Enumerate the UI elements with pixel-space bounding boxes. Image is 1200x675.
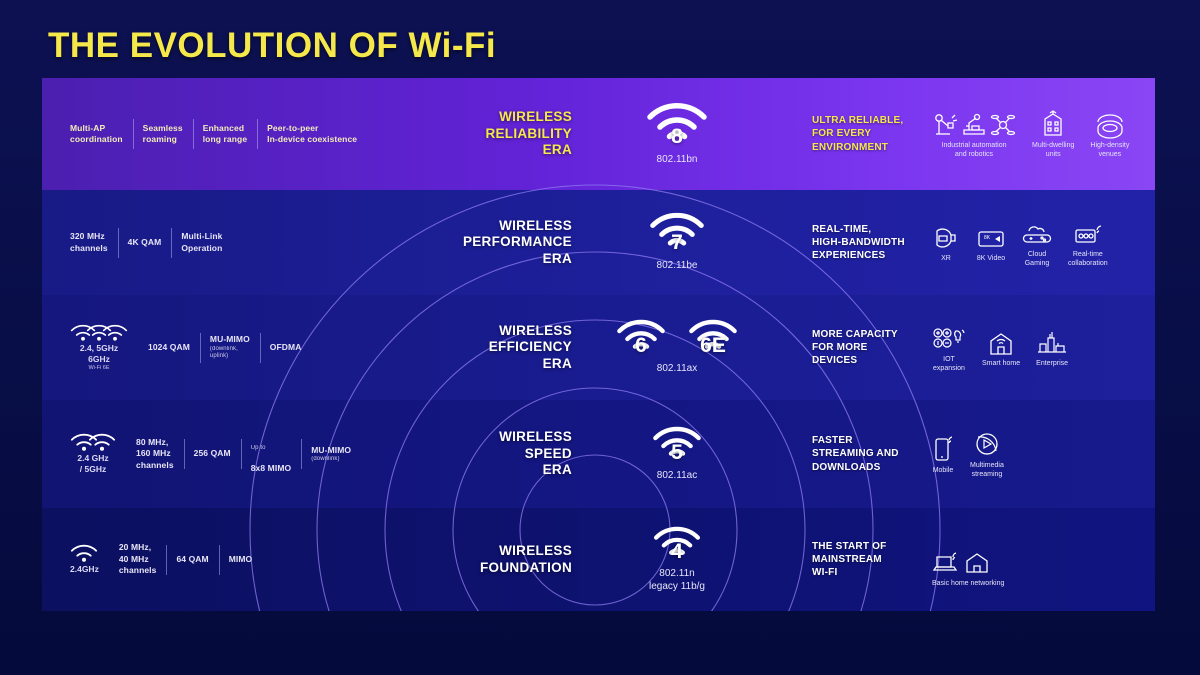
wifi-standard: 802.11bn — [657, 154, 698, 167]
features-cell: 2.4GHz 20 MHz, 40 MHz channels 64 QAM MI… — [60, 508, 410, 611]
benefit-cell: THE START OF MAINSTREAM WI-FI — [812, 508, 932, 611]
wifi-standard: 802.11ax — [657, 363, 697, 376]
multimedia-streaming-icon — [972, 430, 1002, 458]
wifi-standard: 802.11ac — [657, 470, 697, 483]
use-case-label: Enterprise — [1036, 360, 1068, 369]
wifi-generation: 6 — [635, 338, 647, 355]
feature-item: Seamless roaming — [133, 123, 193, 146]
wifi-signal-icon — [70, 544, 98, 562]
feature-item: 80 MHz, 160 MHz channels — [126, 437, 184, 471]
wifi-generation: 8 — [671, 129, 683, 146]
frequency-band: 2.4GHz — [60, 544, 109, 575]
wifi-generation: 5 — [671, 445, 683, 462]
industrial-robot-icon — [961, 112, 987, 138]
era-title: WIRELESS PERFORMANCE ERA — [463, 218, 572, 267]
use-case-label: Basic home networking — [932, 580, 1004, 589]
use-case: Enterprise — [1036, 326, 1068, 369]
band-label: 2.4, 5GHz 6GHz — [80, 343, 118, 364]
row-content-wifi8: Multi-AP coordination Seamless roaming E… — [42, 78, 1155, 190]
wifi-generation: 4 — [671, 544, 683, 561]
use-case-label: 8K Video — [977, 255, 1005, 264]
feature-item: 4K QAM — [118, 237, 172, 248]
home-icon — [963, 551, 991, 575]
feature-item: Multi-AP coordination — [60, 123, 133, 146]
wifi-signal-icon — [102, 324, 128, 341]
video-8k-icon: 8K — [976, 227, 1006, 251]
use-case-label: Mobile — [933, 467, 954, 476]
feature-item: Up to 8x8 MIMO — [241, 433, 301, 475]
frequency-band: 2.4, 5GHz 6GHz Wi-Fi 6E — [60, 324, 138, 370]
wifi-logo-cell: 4 802.11n legacy 11b/g — [577, 508, 777, 611]
drone-icon — [990, 112, 1016, 138]
wifi-standard: 802.11be — [657, 260, 698, 273]
use-cases-cell: IOT expansion Smart home — [932, 295, 1155, 400]
frequency-band: 2.4 GHz / 5GHz — [60, 433, 126, 474]
wifi-logo-cell: 8 802.11bn — [577, 78, 777, 190]
robot-arm-icon — [932, 112, 958, 138]
use-case: 8K 8K Video — [976, 221, 1006, 264]
slide-background: THE EVOLUTION OF Wi-Fi Multi-AP coordina… — [0, 0, 1200, 675]
iot-devices-icon — [932, 326, 966, 352]
use-case: Industrial automation and robotics — [932, 108, 1016, 160]
use-case-label: Cloud Gaming — [1025, 251, 1050, 269]
use-case: IOT expansion — [932, 322, 966, 374]
use-cases-cell: XR 8K 8K Video — [932, 190, 1155, 295]
features-cell: 2.4 GHz / 5GHz 80 MHz, 160 MHz channels … — [60, 400, 410, 508]
use-cases-cell: Basic home networking — [932, 508, 1155, 611]
band-sublabel: Wi-Fi 6E — [88, 365, 109, 371]
enterprise-campus-icon — [1036, 330, 1068, 356]
feature-title: MU-MIMO — [210, 334, 250, 344]
use-case-label: Real-time collaboration — [1068, 251, 1108, 269]
use-cases-cell: Industrial automation and robotics Multi… — [932, 78, 1155, 190]
benefit-cell: MORE CAPACITY FOR MORE DEVICES — [812, 295, 932, 400]
vr-headset-icon — [932, 227, 960, 251]
era-label-cell: WIRELESS RELIABILITY ERA — [417, 78, 572, 190]
cloud-gaming-icon — [1022, 223, 1052, 247]
row-content-wifi4: 2.4GHz 20 MHz, 40 MHz channels 64 QAM MI… — [42, 508, 1155, 611]
row-content-wifi7: 320 MHz channels 4K QAM Multi-Link Opera… — [42, 190, 1155, 295]
era-label-cell: WIRELESS PERFORMANCE ERA — [417, 190, 572, 295]
use-case — [932, 545, 991, 575]
feature-item: Peer-to-peer In-device coexistence — [257, 123, 367, 146]
use-cases-cell: Mobile Multimedia streaming — [932, 400, 1155, 508]
era-label-cell: WIRELESS SPEED ERA — [417, 400, 572, 508]
stadium-icon — [1095, 112, 1125, 138]
feature-item: MU-MIMO (downlink) — [301, 433, 361, 475]
wifi-logo-cell: 5 802.11ac — [577, 400, 777, 508]
benefit-text: REAL-TIME, HIGH-BANDWIDTH EXPERIENCES — [812, 223, 905, 263]
band-label: 2.4GHz — [70, 564, 99, 575]
use-case-label: High-density venues — [1090, 142, 1129, 160]
benefit-text: FASTER STREAMING AND DOWNLOADS — [812, 434, 899, 474]
use-case: Cloud Gaming — [1022, 217, 1052, 269]
benefit-text: MORE CAPACITY FOR MORE DEVICES — [812, 328, 898, 368]
wifi-logo-cell: 6 6E 802.11ax — [577, 295, 777, 400]
feature-item: 64 QAM — [166, 554, 218, 565]
feature-item: 1024 QAM — [138, 342, 200, 353]
feature-title: MU-MIMO — [311, 445, 351, 455]
era-title: WIRELESS SPEED ERA — [499, 429, 572, 478]
feature-sub: (downlink) — [311, 456, 351, 464]
feature-item: Multi-Link Operation — [171, 231, 232, 254]
use-case-label: Multimedia streaming — [970, 462, 1004, 480]
feature-item: OFDMA — [260, 342, 312, 353]
row-content-wifi6: 2.4, 5GHz 6GHz Wi-Fi 6E 1024 QAM MU-MIMO… — [42, 295, 1155, 400]
evolution-panel: Multi-AP coordination Seamless roaming E… — [42, 78, 1155, 611]
mobile-phone-icon — [932, 435, 954, 463]
feature-pre: Up to — [251, 445, 291, 452]
row-content-wifi5: 2.4 GHz / 5GHz 80 MHz, 160 MHz channels … — [42, 400, 1155, 508]
features-cell: 2.4, 5GHz 6GHz Wi-Fi 6E 1024 QAM MU-MIMO… — [60, 295, 410, 400]
use-case: XR — [932, 221, 960, 264]
features-cell: 320 MHz channels 4K QAM Multi-Link Opera… — [60, 190, 410, 295]
use-case: Multimedia streaming — [970, 428, 1004, 480]
use-case: Smart home — [982, 326, 1020, 369]
svg-text:8K: 8K — [984, 235, 991, 241]
benefit-cell: FASTER STREAMING AND DOWNLOADS — [812, 400, 932, 508]
use-case-label: Smart home — [982, 360, 1020, 369]
benefit-text: THE START OF MAINSTREAM WI-FI — [812, 540, 886, 580]
era-label-cell: WIRELESS EFFICIENCY ERA — [417, 295, 572, 400]
use-case: Multi-dwelling units — [1032, 108, 1074, 160]
use-case: Real-time collaboration — [1068, 217, 1108, 269]
feature-title: 8x8 MIMO — [251, 463, 291, 473]
video-call-icon — [1073, 223, 1103, 247]
feature-item: 20 MHz, 40 MHz channels — [109, 542, 167, 576]
feature-item: MIMO — [219, 554, 263, 565]
page-title: THE EVOLUTION OF Wi-Fi — [48, 26, 496, 66]
benefit-text: ULTRA RELIABLE, FOR EVERY ENVIRONMENT — [812, 114, 903, 154]
features-cell: Multi-AP coordination Seamless roaming E… — [60, 78, 410, 190]
era-title: WIRELESS EFFICIENCY ERA — [489, 323, 572, 372]
feature-sub: (downlink, uplink) — [210, 346, 250, 361]
era-title: WIRELESS RELIABILITY ERA — [485, 109, 572, 158]
wifi-generation-6e: 6E — [700, 338, 726, 355]
wifi-standard: 802.11n legacy 11b/g — [649, 568, 705, 593]
use-case-label: Multi-dwelling units — [1032, 142, 1074, 160]
wifi-logo-cell: 7 802.11be — [577, 190, 777, 295]
band-label: 2.4 GHz / 5GHz — [77, 453, 108, 474]
use-case-label: Industrial automation and robotics — [942, 142, 1007, 160]
feature-item: 320 MHz channels — [60, 231, 118, 254]
use-case: High-density venues — [1090, 108, 1129, 160]
feature-item: 256 QAM — [184, 448, 241, 459]
feature-item: MU-MIMO (downlink, uplink) — [200, 323, 260, 372]
laptop-wifi-icon — [932, 551, 960, 575]
feature-item: Enhanced long range — [193, 123, 257, 146]
use-case-label: XR — [941, 255, 951, 264]
era-label-cell: WIRELESS FOUNDATION — [417, 508, 572, 611]
use-case: Mobile — [932, 433, 954, 476]
wifi-signal-icon — [88, 433, 116, 451]
benefit-cell: REAL-TIME, HIGH-BANDWIDTH EXPERIENCES — [812, 190, 932, 295]
smart-home-icon — [987, 330, 1015, 356]
use-case-label: IOT expansion — [933, 356, 965, 374]
apartment-building-icon — [1039, 110, 1067, 138]
wifi-generation: 7 — [671, 235, 683, 252]
era-title: WIRELESS FOUNDATION — [480, 543, 572, 576]
benefit-cell: ULTRA RELIABLE, FOR EVERY ENVIRONMENT — [812, 78, 932, 190]
